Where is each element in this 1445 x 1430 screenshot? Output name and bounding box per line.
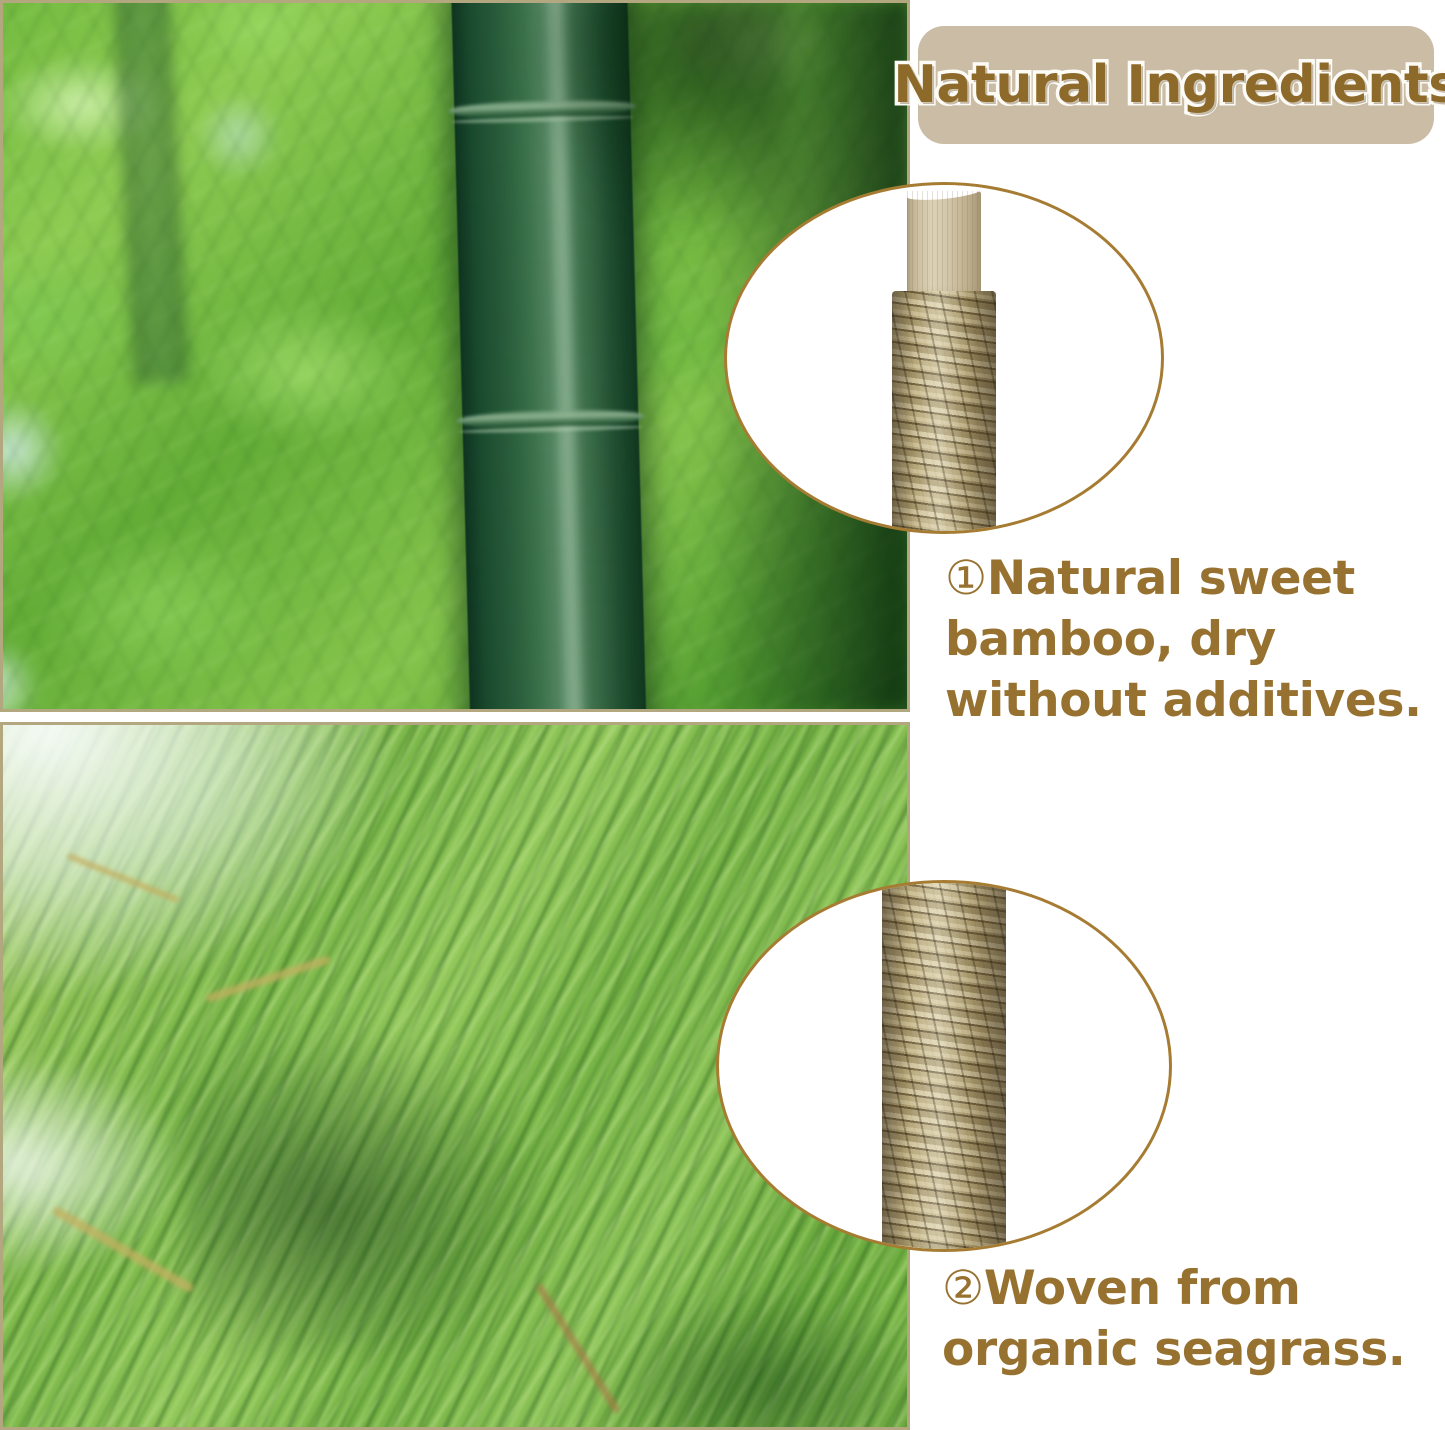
seagrass-sky-highlight-lower (0, 1055, 183, 1275)
chew-stick-product (890, 182, 998, 534)
callout-seagrass-weave-closeup (716, 880, 1172, 1252)
feature-label-2: Woven from organic seagrass. (942, 1261, 1405, 1377)
infographic-page: Natural Ingredients ①Natural sweet bambo… (0, 0, 1445, 1430)
seagrass-sky-highlight (0, 722, 393, 995)
page-title: Natural Ingredients (893, 55, 1445, 115)
feature-label-1: Natural sweet bamboo, dry without additi… (945, 551, 1422, 728)
feature-marker-1: ① (945, 551, 987, 606)
seagrass-weave-shading (882, 880, 1006, 1252)
feature-marker-2: ② (942, 1261, 984, 1316)
seagrass-weave-wrap (882, 880, 1006, 1252)
callout-bamboo-stick-closeup (724, 182, 1164, 534)
feature-item-1: ①Natural sweet bamboo, dry without addit… (945, 548, 1437, 731)
seagrass-shadow-right (603, 1285, 910, 1430)
seagrass-rope-product (879, 883, 1009, 1249)
title-banner: Natural Ingredients (918, 26, 1434, 144)
seagrass-weave-shading (892, 291, 996, 534)
bamboo-stick-tip (907, 191, 981, 303)
feature-item-2: ②Woven from organic seagrass. (942, 1258, 1442, 1380)
seagrass-weave-wrap (892, 291, 996, 534)
seagrass-shadow-center (183, 1025, 543, 1355)
